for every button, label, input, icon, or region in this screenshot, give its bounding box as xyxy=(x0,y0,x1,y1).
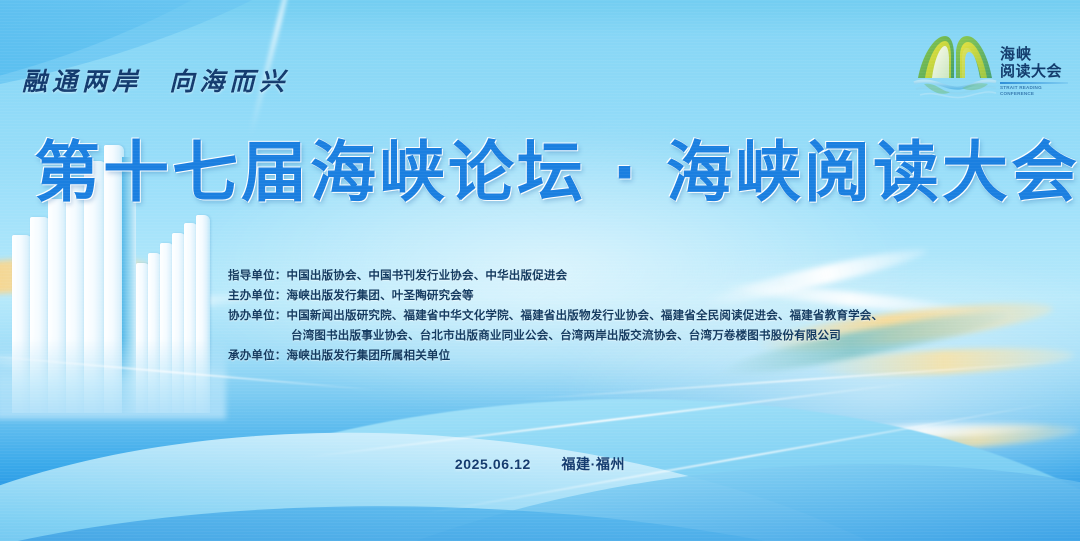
strait-reading-bridge-mark xyxy=(912,26,998,106)
conference-poster: 融通两岸 向海而兴 第十七届海峡论坛 · 海峡阅读大会 指导单位：中国出版协会、… xyxy=(0,0,1080,541)
logo-wordmark: 海峡 阅读大会 STRAIT READING CONFERENCE xyxy=(1000,46,1068,97)
poster-title: 第十七届海峡论坛 · 海峡阅读大会 xyxy=(34,140,1050,206)
logo-line-1: 海峡 xyxy=(1000,46,1068,63)
conference-logo: 海峡 阅读大会 STRAIT READING CONFERENCE xyxy=(912,26,1072,114)
credit-line-organizer: 承办单位：海峡出版发行集团所属相关单位 xyxy=(228,346,883,366)
credit-line-coorganizer: 协办单位：中国新闻出版研究院、福建省中华文化学院、福建省出版物发行业协会、福建省… xyxy=(228,306,883,326)
logo-subtitle: STRAIT READING CONFERENCE xyxy=(1000,85,1068,97)
credit-line-guidance: 指导单位：中国出版协会、中国书刊发行业协会、中华出版促进会 xyxy=(228,266,883,286)
event-date: 2025.06.12 xyxy=(455,456,531,472)
credit-line-host: 主办单位：海峡出版发行集团、叶圣陶研究会等 xyxy=(228,286,883,306)
logo-line-2: 阅读大会 xyxy=(1000,63,1068,80)
event-date-place: 2025.06.12 福建·福州 xyxy=(0,454,1080,474)
poster-slogan: 融通两岸 向海而兴 xyxy=(22,62,289,98)
logo-divider xyxy=(1000,82,1068,84)
event-place: 福建·福州 xyxy=(561,456,625,472)
credit-line-coorganizer-cont: 台湾图书出版事业协会、台北市出版商业同业公会、台湾两岸出版交流协会、台湾万卷楼图… xyxy=(228,326,883,346)
organizer-credits: 指导单位：中国出版协会、中国书刊发行业协会、中华出版促进会 主办单位：海峡出版发… xyxy=(228,266,883,366)
